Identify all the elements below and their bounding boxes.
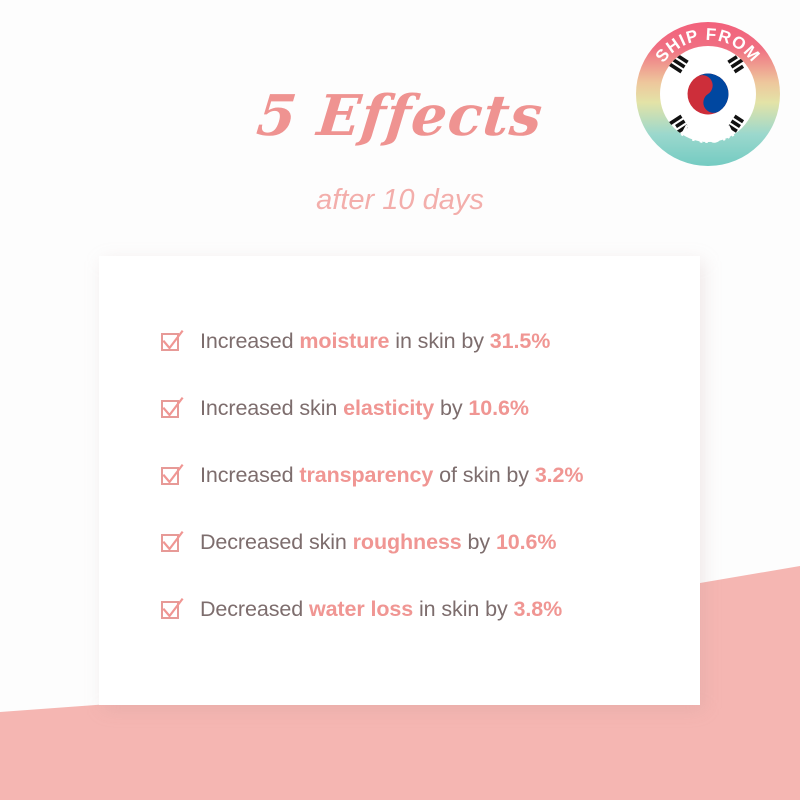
effect-highlight: 31.5% — [490, 329, 550, 353]
effect-list-item: Increased skin elasticity by 10.6% — [159, 375, 699, 442]
effect-highlight: 3.2% — [535, 463, 584, 487]
effect-plain: Decreased — [200, 597, 309, 621]
effect-list-item: Increased transparency of skin by 3.2% — [159, 442, 699, 509]
checkbox-checked-icon — [159, 597, 185, 623]
page-subtitle: after 10 days — [0, 186, 800, 215]
checkbox-checked-icon — [159, 530, 185, 556]
effect-plain: Increased — [200, 463, 299, 487]
effect-highlight: transparency — [299, 463, 433, 487]
effect-plain: of skin by — [433, 463, 535, 487]
effect-plain: by — [462, 530, 496, 554]
effect-text: Increased transparency of skin by 3.2% — [200, 463, 583, 488]
effect-list-item: Decreased water loss in skin by 3.8% — [159, 576, 699, 643]
effect-highlight: elasticity — [343, 396, 434, 420]
effect-list-item: Increased moisture in skin by 31.5% — [159, 308, 699, 375]
effect-plain: Increased skin — [200, 396, 343, 420]
effects-list: Increased moisture in skin by 31.5%Incre… — [159, 308, 699, 643]
effects-card: Increased moisture in skin by 31.5%Incre… — [99, 256, 700, 705]
effect-text: Increased skin elasticity by 10.6% — [200, 396, 529, 421]
effect-text: Increased moisture in skin by 31.5% — [200, 329, 550, 354]
ship-from-prism-badge: SHIP FROM PRISM — [634, 20, 782, 168]
effect-highlight: 3.8% — [514, 597, 563, 621]
effect-highlight: moisture — [299, 329, 389, 353]
checkbox-checked-icon — [159, 329, 185, 355]
effect-highlight: water loss — [309, 597, 413, 621]
checkbox-checked-icon — [159, 396, 185, 422]
effect-highlight: roughness — [353, 530, 462, 554]
effect-text: Decreased skin roughness by 10.6% — [200, 530, 556, 555]
effect-text: Decreased water loss in skin by 3.8% — [200, 597, 562, 622]
effect-highlight: 10.6% — [496, 530, 556, 554]
effect-plain: Increased — [200, 329, 299, 353]
effect-list-item: Decreased skin roughness by 10.6% — [159, 509, 699, 576]
effect-plain: in skin by — [413, 597, 513, 621]
effect-plain: in skin by — [389, 329, 489, 353]
checkbox-checked-icon — [159, 463, 185, 489]
effect-plain: Decreased skin — [200, 530, 353, 554]
band-shape-left — [0, 695, 232, 800]
promo-poster: 5 Effects after 10 days — [0, 0, 800, 800]
effect-plain: by — [434, 396, 468, 420]
effect-highlight: 10.6% — [468, 396, 528, 420]
